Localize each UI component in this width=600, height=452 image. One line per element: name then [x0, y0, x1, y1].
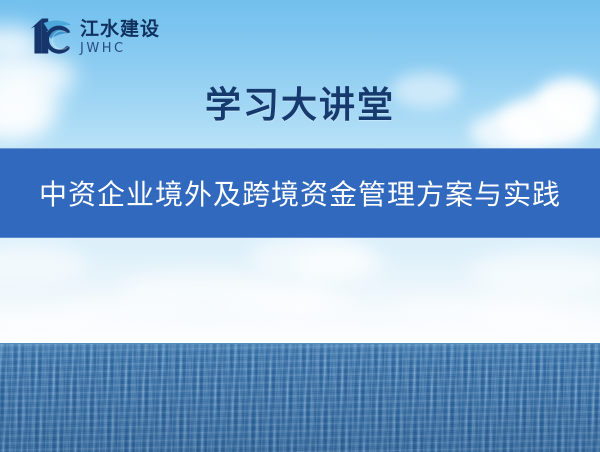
subtitle-banner: 中资企业境外及跨境资金管理方案与实践: [0, 148, 600, 238]
sea-depth-shading: [0, 344, 600, 452]
cloud-shape: [480, 308, 600, 326]
subtitle-text: 中资企业境外及跨境资金管理方案与实践: [39, 173, 561, 213]
logo-wordmark: 江水建设 JWHC: [80, 18, 160, 55]
jwhc-monogram-icon: [28, 13, 74, 59]
logo-company-cn: 江水建设: [80, 20, 160, 39]
poster-root: 江水建设 JWHC 学习大讲堂 中资企业境外及跨境资金管理方案与实践: [0, 0, 600, 452]
logo-company-en: JWHC: [80, 42, 160, 55]
cloud-shape: [262, 284, 332, 308]
company-logo: 江水建设 JWHC: [28, 12, 160, 60]
cloud-shape: [296, 246, 384, 282]
page-title: 学习大讲堂: [0, 76, 600, 128]
subtitle-banner-inner: 中资企业境外及跨境资金管理方案与实践: [0, 148, 600, 238]
